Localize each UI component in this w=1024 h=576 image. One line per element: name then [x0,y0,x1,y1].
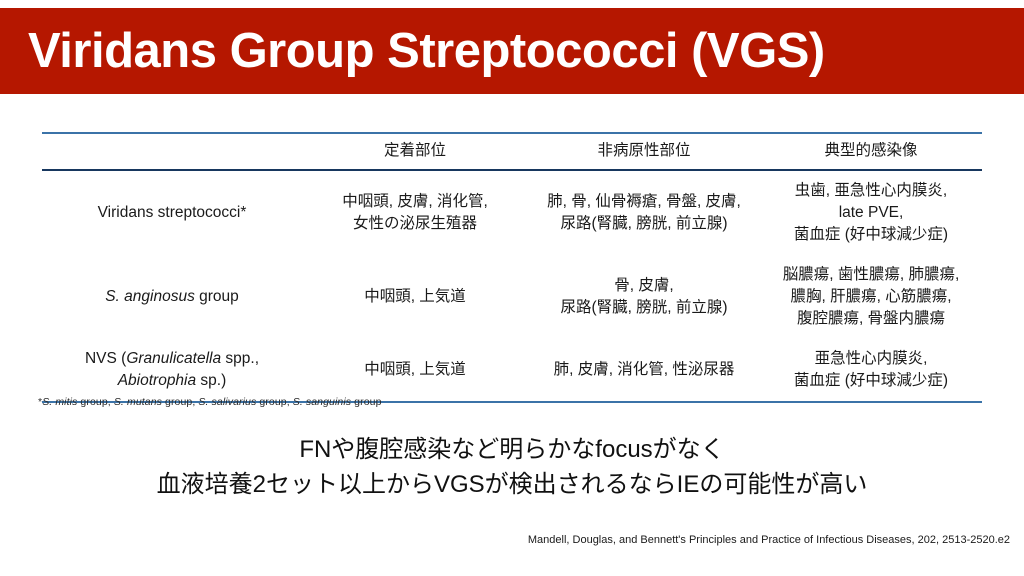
cell-nonpathogenic: 肺, 骨, 仙骨褥瘡, 骨盤, 皮膚, 尿路(腎臓, 膀胱, 前立腺) [528,170,760,255]
table-row: Viridans streptococci* 中咽頭, 皮膚, 消化管, 女性の… [42,170,982,255]
cell-line: 菌血症 (好中球減少症) [764,224,978,246]
organism-suffix-2: sp.) [196,372,226,389]
cell-line: 尿路(腎臓, 膀胱, 前立腺) [532,213,756,235]
footnote-text-2: group, [162,396,198,408]
cell-line: 虫歯, 亜急性心内膜炎, [764,180,978,202]
footnote-species-4: S. sanguinis [293,396,351,408]
column-header-colonization: 定着部位 [302,133,528,170]
footnote-species-1: S. mitis [42,396,77,408]
cell-line: 肺, 皮膚, 消化管, 性泌尿器 [532,359,756,381]
conclusion-line-1: FNや腹腔感染など明らかなfocusがなく [0,432,1024,467]
table-header-row: 定着部位 非病原性部位 典型的感染像 [42,133,982,170]
conclusion-text: FNや腹腔感染など明らかなfocusがなく 血液培養2セット以上からVGSが検出… [0,432,1024,502]
cell-line: 肺, 骨, 仙骨褥瘡, 骨盤, 皮膚, [532,191,756,213]
cell-typical-infection: 虫歯, 亜急性心内膜炎, late PVE, 菌血症 (好中球減少症) [760,170,982,255]
cell-line: 中咽頭, 皮膚, 消化管, [306,191,524,213]
organism-name: S. anginosus group [46,286,298,308]
footnote-species-3: S. salivarius [198,396,256,408]
organism-genus-abiotrophia: Abiotrophia [118,372,196,389]
source-citation: Mandell, Douglas, and Bennett's Principl… [528,534,1010,546]
footnote-species-2: S. mutans [114,396,162,408]
footnote-text-4: group [351,396,381,408]
organism-genus-species: S. anginosus [105,288,195,305]
cell-typical-infection: 脳膿瘍, 歯性膿瘍, 肺膿瘍, 膿胸, 肝膿瘍, 心筋膿瘍, 腹腔膿瘍, 骨盤内… [760,255,982,339]
cell-line: late PVE, [764,202,978,224]
organism-name: Viridans streptococci* [46,202,298,224]
conclusion-line-2: 血液培養2セット以上からVGSが検出されるならIEの可能性が高い [0,467,1024,502]
table-body: Viridans streptococci* 中咽頭, 皮膚, 消化管, 女性の… [42,170,982,402]
cell-line: 脳膿瘍, 歯性膿瘍, 肺膿瘍, [764,264,978,286]
cell-colonization: 中咽頭, 皮膚, 消化管, 女性の泌尿生殖器 [302,170,528,255]
table-footnote: *S. mitis group, S. mutans group, S. sal… [38,396,382,408]
table-header: 定着部位 非病原性部位 典型的感染像 [42,133,982,170]
organism-prefix: NVS ( [85,350,126,367]
organism-genus-granulicatella: Granulicatella [126,350,221,367]
cell-line: 中咽頭, 上気道 [306,286,524,308]
organism-name-line1: NVS (Granulicatella spp., [46,348,298,370]
cell-line: 尿路(腎臓, 膀胱, 前立腺) [532,297,756,319]
cell-typical-infection: 亜急性心内膜炎, 菌血症 (好中球減少症) [760,339,982,402]
cell-nonpathogenic: 骨, 皮膚, 尿路(腎臓, 膀胱, 前立腺) [528,255,760,339]
cell-line: 中咽頭, 上気道 [306,359,524,381]
cell-line: 菌血症 (好中球減少症) [764,370,978,392]
organism-suffix-1: spp., [221,350,259,367]
vgs-table-container: 定着部位 非病原性部位 典型的感染像 Viridans streptococci… [42,132,982,403]
cell-organism: S. anginosus group [42,255,302,339]
cell-organism: Viridans streptococci* [42,170,302,255]
footnote-text-1: group, [77,396,113,408]
cell-organism: NVS (Granulicatella spp., Abiotrophia sp… [42,339,302,402]
cell-nonpathogenic: 肺, 皮膚, 消化管, 性泌尿器 [528,339,760,402]
cell-colonization: 中咽頭, 上気道 [302,255,528,339]
column-header-organism [42,133,302,170]
cell-line: 亜急性心内膜炎, [764,348,978,370]
table-row: S. anginosus group 中咽頭, 上気道 骨, 皮膚, 尿路(腎臓… [42,255,982,339]
cell-line: 膿胸, 肝膿瘍, 心筋膿瘍, [764,286,978,308]
column-header-nonpathogenic: 非病原性部位 [528,133,760,170]
cell-colonization: 中咽頭, 上気道 [302,339,528,402]
table-row: NVS (Granulicatella spp., Abiotrophia sp… [42,339,982,402]
cell-line: 女性の泌尿生殖器 [306,213,524,235]
column-header-typical-infection: 典型的感染像 [760,133,982,170]
page-title: Viridans Group Streptococci (VGS) [28,27,825,76]
cell-line: 骨, 皮膚, [532,275,756,297]
title-banner: Viridans Group Streptococci (VGS) [0,8,1024,94]
cell-line: 腹腔膿瘍, 骨盤内膿瘍 [764,308,978,330]
organism-suffix: group [195,288,239,305]
organism-name-line2: Abiotrophia sp.) [46,370,298,392]
footnote-text-3: group, [256,396,292,408]
vgs-table: 定着部位 非病原性部位 典型的感染像 Viridans streptococci… [42,132,982,403]
